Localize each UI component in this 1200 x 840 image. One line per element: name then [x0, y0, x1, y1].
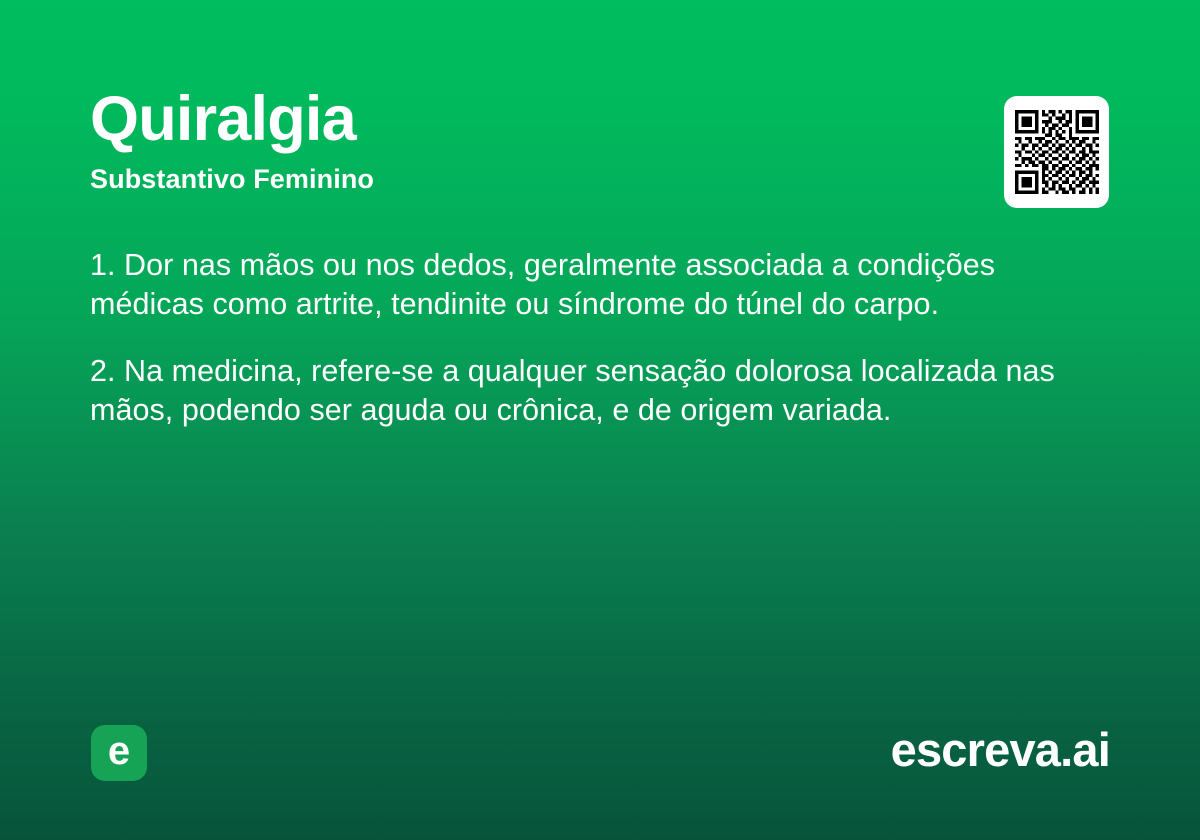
- definition-item: 1. Dor nas mãos ou nos dedos, geralmente…: [90, 246, 1110, 324]
- page-title: Quiralgia: [90, 88, 970, 151]
- card-header: Quiralgia Substantivo Feminino: [90, 88, 970, 195]
- brand-logo-badge[interactable]: e: [91, 725, 147, 781]
- qr-code-icon: [1015, 110, 1099, 194]
- brand-wordmark: escreva.ai: [891, 722, 1110, 778]
- definition-item: 2. Na medicina, refere-se a qualquer sen…: [90, 352, 1110, 430]
- word-class-label: Substantivo Feminino: [90, 165, 970, 195]
- definition-card: Quiralgia Substantivo Feminino 1. Dor na…: [0, 0, 1200, 840]
- definition-list: 1. Dor nas mãos ou nos dedos, geralmente…: [90, 246, 1110, 430]
- brand-logo-letter: e: [108, 731, 130, 771]
- qr-code-card[interactable]: [1004, 96, 1109, 208]
